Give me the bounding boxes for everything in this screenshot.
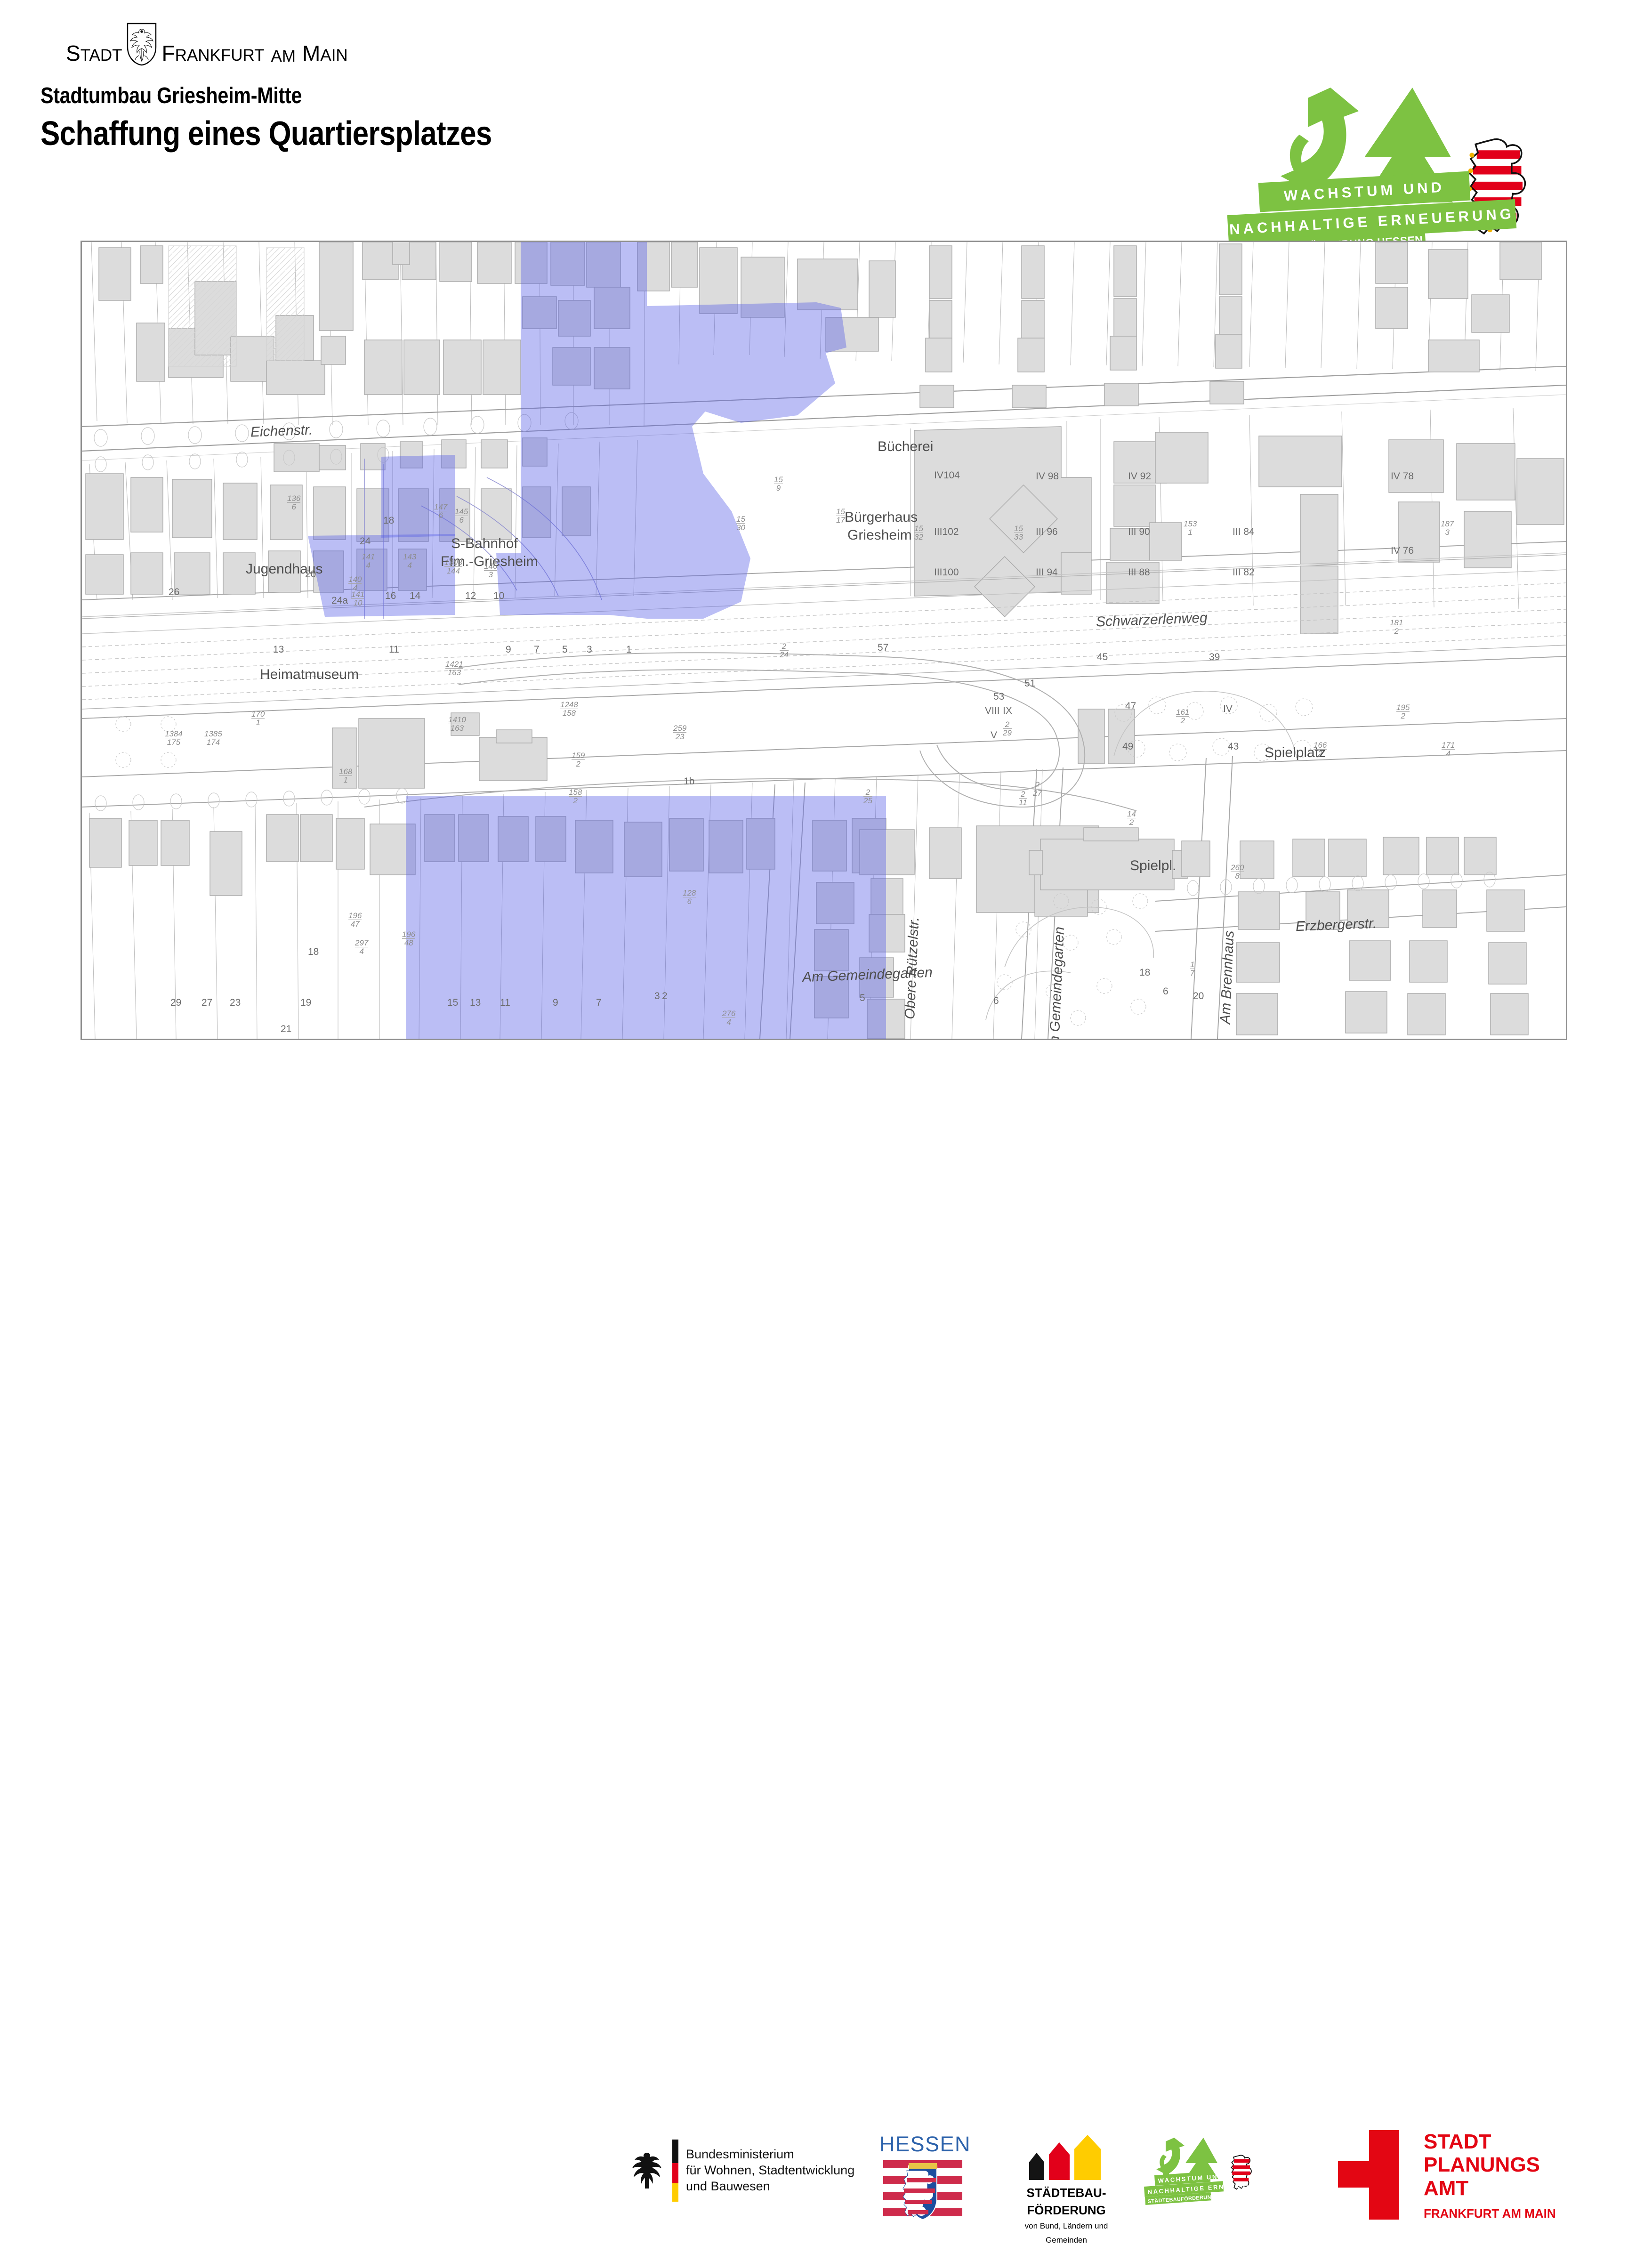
house-number: 2 (662, 991, 668, 1002)
house-number: 34 (329, 1038, 339, 1040)
house-number: 57 (878, 642, 888, 654)
poi-label-spielpl: Spielpl. (1130, 858, 1176, 874)
house-number: 3 (654, 991, 660, 1002)
house-number: 10 (493, 590, 504, 602)
stadtplanungsamt-text: STADT PLANUNGS AMT FRANKFURT AM MAIN (1424, 2130, 1556, 2221)
parcel-number: 227 (1033, 781, 1042, 797)
parcel-number: 1404 (348, 575, 362, 592)
house-number: IV 76 (1391, 545, 1414, 557)
city-logo-frankfurt-initial: F (161, 40, 175, 66)
parcel-number: 1517 (836, 508, 845, 524)
hessen-wordmark: HESSEN (879, 2132, 967, 2156)
parcel-number: 1286 (683, 889, 696, 905)
city-logo-word-stadt: STADT (66, 40, 122, 66)
house-number: 1b (684, 776, 694, 787)
bundesministerium-logo: Bundesministerium für Wohnen, Stadtentwi… (629, 2140, 854, 2202)
page-title: Schaffung eines Quartiersplatzes (40, 114, 492, 153)
poi-label-buergerhaus: Bürgerhaus (845, 509, 918, 525)
house-number: 11 (500, 997, 510, 1009)
house-number: 12 (465, 590, 476, 602)
poi-label-s-bahnhof: S-Bahnhof (451, 536, 518, 552)
bundesministerium-text: Bundesministerium für Wohnen, Stadtentwi… (686, 2147, 854, 2194)
house-number: V (991, 730, 997, 741)
parcel-number: 1421163 (445, 660, 463, 677)
house-number: 18 (383, 515, 394, 526)
staedtebau-line1: STÄDTEBAU- (1012, 2186, 1120, 2200)
project-subtitle: Stadtumbau Griesheim-Mitte (40, 83, 492, 109)
parcel-number: 19647 (348, 912, 362, 928)
staedtebaufoerderung-logo: STÄDTEBAU- FÖRDERUNG von Bund, Ländern u… (1012, 2135, 1120, 2245)
city-logo-frankfurt-rest: RANKFURT (175, 46, 265, 65)
house-number: IV (1223, 703, 1233, 715)
house-number: 6 (1163, 986, 1168, 997)
house-number: VIII (985, 705, 1000, 717)
parcel-number: 1434 (403, 553, 416, 569)
house-number: 9 (553, 997, 558, 1009)
house-number: 13 (470, 997, 481, 1009)
house-number: 15 (447, 997, 458, 1009)
three-houses-icon (1012, 2135, 1120, 2180)
parcel-number: 1248158 (560, 701, 578, 717)
spa-line1: STADT (1424, 2130, 1556, 2153)
hessen-logo: HESSEN (879, 2132, 967, 2227)
recycle-arrow-icon-small (1156, 2138, 1185, 2176)
german-flag-bar (672, 2140, 678, 2202)
house-number: 13 (273, 644, 284, 655)
house-number: 49 (1122, 741, 1133, 752)
parcel-number: 1952 (1396, 703, 1410, 720)
house-number: 3 (587, 644, 592, 655)
city-logo-am: AM (271, 47, 296, 66)
house-number: 47 (1125, 701, 1136, 712)
parcel-number: 1612 (1176, 708, 1189, 725)
bmwsb-line2: für Wohnen, Stadtentwicklung (686, 2163, 854, 2179)
parcel-number: 1714 (1442, 741, 1455, 758)
house-number: 20 (305, 569, 316, 580)
cadastral-map[interactable]: Eichenstr. Schwarzerlenweg Erzbergerstr.… (81, 241, 1567, 1040)
parcel-number: 17 (1190, 961, 1194, 977)
hessen-crest-icon (879, 2158, 967, 2224)
house-number: IV 78 (1391, 471, 1414, 482)
spa-line2: PLANUNGS (1424, 2153, 1556, 2176)
city-logo-main-rest: AIN (320, 46, 347, 65)
parcel-number: 1533 (1014, 525, 1023, 541)
parcel-number: 1681 (339, 767, 352, 784)
bundesadler-icon (629, 2150, 665, 2192)
title-block: Stadtumbau Griesheim-Mitte Schaffung ein… (40, 83, 565, 153)
parcel-number: 1873 (1441, 520, 1454, 536)
house-number: III 96 (1036, 526, 1058, 538)
staedtebau-sub1: von Bund, Ländern und (1012, 2221, 1120, 2231)
house-number: 6 (993, 995, 999, 1007)
parcel-number: 1476 (434, 503, 447, 519)
house-number: 24a (331, 595, 348, 606)
parcel-number: 224 (780, 642, 789, 659)
parcel-number: 1701 (251, 710, 265, 727)
poi-label-griesheim: Griesheim (847, 527, 912, 543)
map-canvas: Eichenstr. Schwarzerlenweg Erzbergerstr.… (82, 242, 1566, 1039)
parcel-number: 1385174 (204, 730, 222, 746)
parcel-number: 1456 (455, 508, 468, 524)
parcel-number: 211 (1019, 790, 1027, 807)
spa-sub: FRANKFURT AM MAIN (1424, 2206, 1556, 2221)
house-number: 51 (1024, 678, 1035, 689)
staedtebau-line2: FÖRDERUNG (1012, 2204, 1120, 2217)
city-logo-main-initial: M (302, 40, 320, 66)
street-label-erzbergerstr: Erzbergerstr. (1295, 916, 1377, 935)
house-number: 14 (410, 590, 420, 602)
city-logo-word-main: MAIN (302, 40, 348, 66)
house-number: III102 (934, 526, 959, 538)
house-number: IV 92 (1128, 471, 1151, 482)
parcel-number: 1812 (1390, 619, 1403, 635)
house-number: 11 (389, 644, 399, 655)
bmwsb-line1: Bundesministerium (686, 2147, 854, 2163)
parcel-number: 14110 (351, 590, 364, 607)
parcel-number: 25923 (673, 724, 686, 741)
street-label-eichenstr: Eichenstr. (250, 422, 313, 440)
house-number: III 94 (1036, 567, 1058, 578)
parcel-number: 863281 (465, 1038, 478, 1040)
house-number: 23 (230, 997, 241, 1009)
poi-label-heimatmuseum: Heimatmuseum (260, 667, 359, 683)
house-number: III 84 (1233, 526, 1255, 538)
wachstum-logo-small: WACHSTUM UND NACHHALTIGE ERNEUERUNG STÄD… (1138, 2137, 1280, 2207)
staedtebau-sub2: Gemeinden (1012, 2236, 1120, 2245)
poi-label-buecherei: Bücherei (878, 439, 933, 455)
stadtplanungsamt-logo: STADT PLANUNGS AMT FRANKFURT AM MAIN (1338, 2130, 1556, 2222)
house-number: IX (1003, 705, 1012, 717)
parcel-number: 2974 (355, 939, 368, 955)
house-number: 45 (1097, 652, 1108, 663)
house-number: IV104 (934, 470, 960, 481)
house-number: 5 (562, 644, 568, 655)
city-logo: STADT FRANKFURT AM MAIN (66, 23, 348, 66)
parcel-number: 229 (1003, 720, 1012, 737)
spa-line3: AMT (1424, 2177, 1556, 2200)
house-number: 24 (360, 536, 371, 547)
parcel-number: 1662 (1314, 741, 1327, 758)
house-number: III 90 (1128, 526, 1150, 538)
house-number: 21 (281, 1024, 291, 1035)
house-number: 19 (300, 997, 311, 1009)
bmwsb-line3: und Bauwesen (686, 2179, 854, 2195)
parcel-number: 1303144 (444, 558, 462, 575)
city-logo-stadt-rest: TADT (81, 46, 122, 65)
city-logo-stadt-initial: S (66, 40, 81, 66)
parcel-number: 2764 (722, 1009, 735, 1026)
house-number: 16 (385, 590, 396, 602)
house-number: 29 (170, 997, 181, 1009)
parcel-number: 1384175 (165, 730, 183, 746)
parcel-number: 862281 (423, 1038, 436, 1040)
city-logo-word-am: AM (271, 47, 296, 66)
parcel-number: 1463 (484, 562, 497, 579)
house-number: 53 (993, 691, 1004, 703)
parcel-number: 1414 (362, 553, 375, 569)
house-number: 18 (1139, 967, 1150, 978)
parcel-number: 1532 (914, 525, 923, 541)
house-number: 18 (308, 946, 319, 958)
house-number: III 88 (1128, 567, 1150, 578)
parcel-number: 1410163 (448, 716, 466, 732)
parcel-number: 142 (1127, 810, 1136, 826)
parcel-number: 19648 (402, 930, 415, 947)
parcel-number: 1530 (736, 515, 745, 532)
house-number: 20 (1193, 991, 1204, 1002)
parcel-number: 2608 (1231, 864, 1244, 880)
house-number: 1 (626, 644, 632, 655)
parcel-number: 1582 (569, 788, 582, 805)
parcel-number: 1592 (572, 751, 585, 768)
house-number: 9 (506, 644, 511, 655)
house-number: 43 (1228, 741, 1239, 752)
parcel-number: 1531 (1184, 520, 1197, 536)
spa-red-mark-icon (1338, 2130, 1408, 2222)
city-logo-word-frankfurt: FRANKFURT (161, 40, 264, 66)
parcel-number: 225 (863, 788, 872, 805)
frankfurt-eagle-crest-icon (127, 23, 157, 66)
house-number: 26 (169, 587, 179, 598)
house-number: III100 (934, 567, 959, 578)
house-number: 39 (1209, 652, 1220, 663)
footer-logos: Bundesministerium für Wohnen, Stadtentwi… (0, 1062, 1652, 1156)
house-number: 7 (596, 997, 602, 1009)
parcel-number: 1366 (287, 494, 300, 511)
house-number: 27 (201, 997, 212, 1009)
house-number: 5 (860, 993, 865, 1004)
parcel-number: 159 (774, 476, 783, 492)
house-number: III 82 (1233, 567, 1255, 578)
house-number: 7 (534, 644, 540, 655)
house-number: IV 98 (1036, 471, 1059, 482)
